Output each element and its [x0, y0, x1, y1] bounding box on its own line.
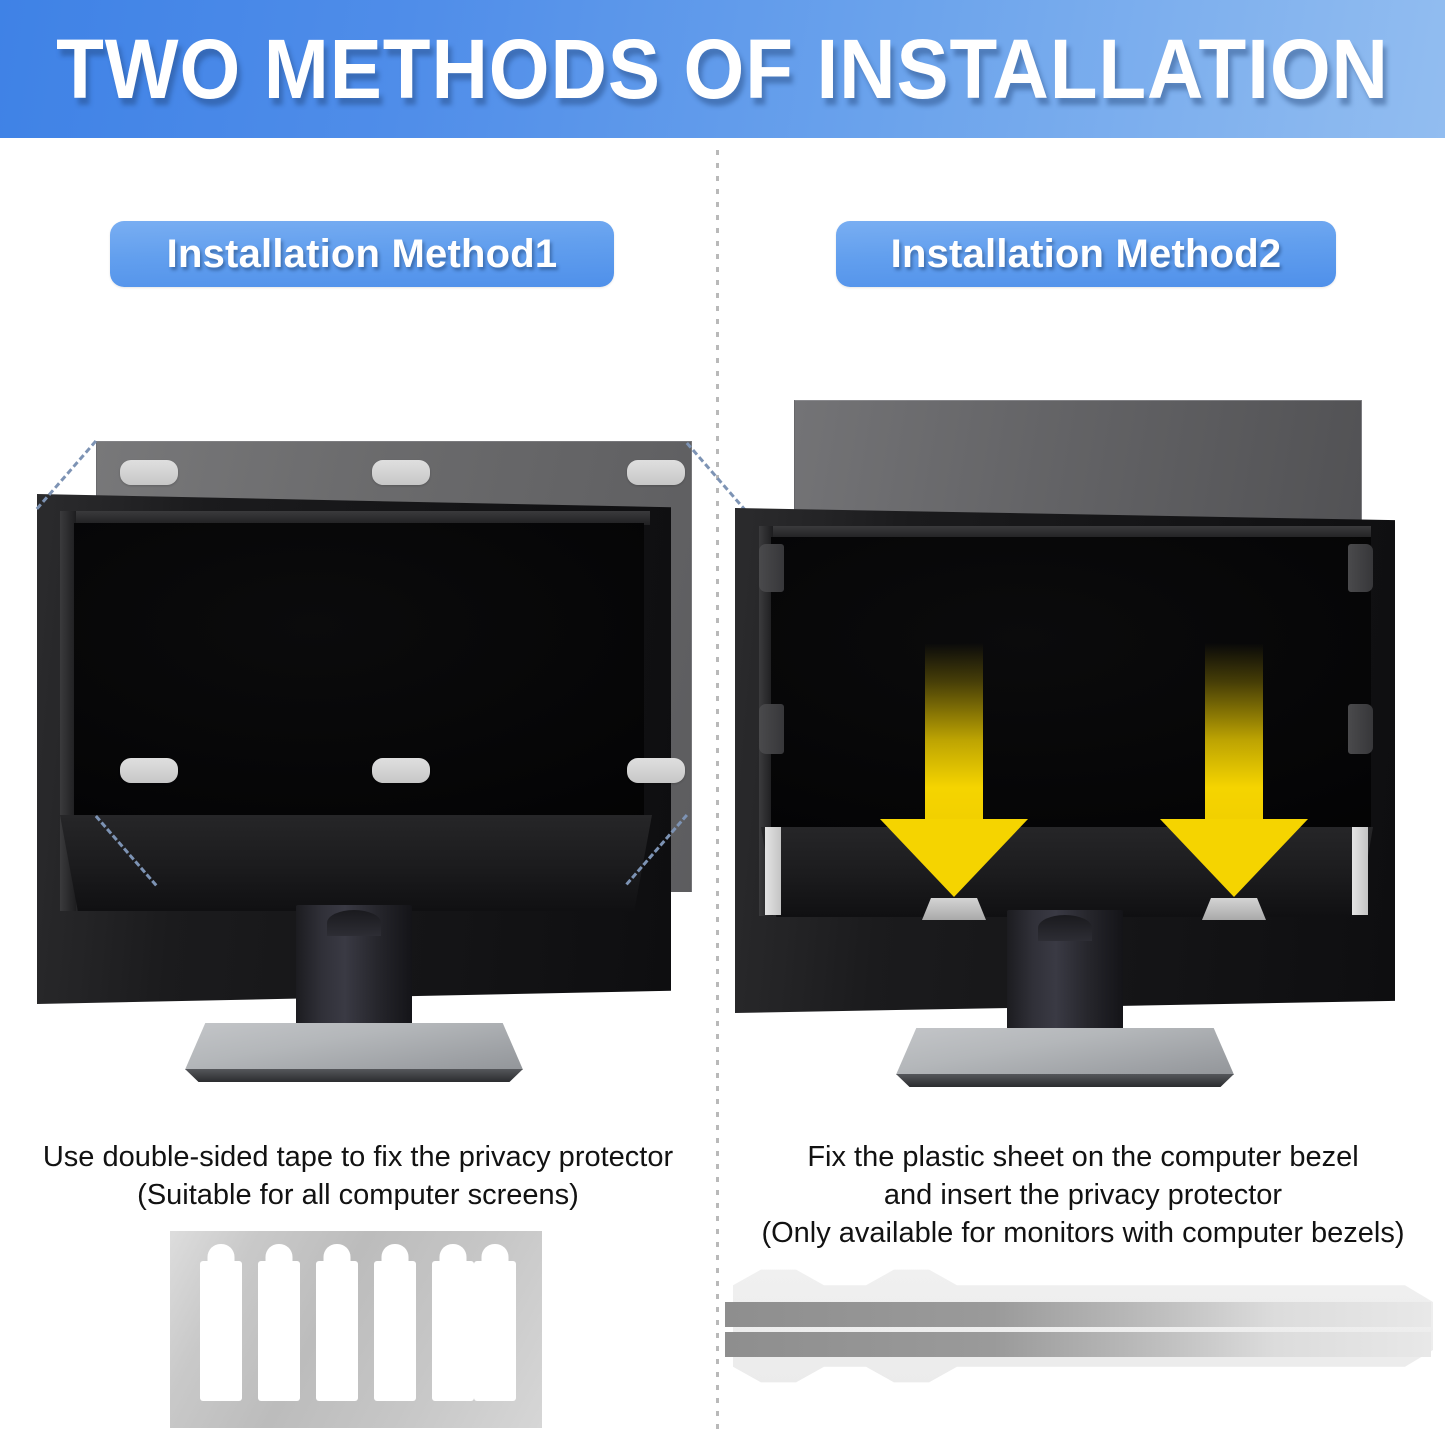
caption-line: Use double-sided tape to fix the privacy… — [8, 1138, 708, 1176]
filter-clip-tab — [759, 544, 784, 592]
insertion-arrow — [1154, 643, 1314, 898]
badge-method-1: Installation Method1 — [110, 221, 614, 287]
plastic-strip — [725, 1302, 1431, 1327]
installation-method-2-panel: Installation Method2 — [719, 138, 1445, 1438]
plastic-side-strip — [765, 827, 781, 915]
tape-pad — [372, 460, 430, 485]
arrow-shaft — [1205, 643, 1263, 819]
filter-bottom-tab — [1202, 898, 1266, 920]
plastic-mounting-strips — [725, 1266, 1441, 1386]
tape-tab — [374, 1261, 416, 1401]
arrow-head — [1160, 819, 1308, 897]
tape-tab — [200, 1261, 242, 1401]
tape-tab — [316, 1261, 358, 1401]
badge-method-2: Installation Method2 — [836, 221, 1336, 287]
filter-clip-tab — [1348, 704, 1373, 754]
stand-cable-hole — [1038, 915, 1092, 941]
monitor-illustration-method-1 — [0, 418, 716, 1118]
tape-tab — [432, 1261, 474, 1401]
header-banner: TWO METHODS OF INSTALLATION — [0, 0, 1445, 138]
monitor-stand-base-edge — [896, 1074, 1234, 1087]
filter-bottom-tab — [922, 898, 986, 920]
monitor-stand-base-edge — [185, 1069, 523, 1082]
filter-clip-tab — [1348, 544, 1373, 592]
caption-method-2: Fix the plastic sheet on the computer be… — [725, 1138, 1441, 1252]
tape-tab — [474, 1261, 516, 1401]
caption-line: and insert the privacy protector — [725, 1176, 1441, 1214]
monitor-illustration-method-2 — [719, 398, 1445, 1118]
tape-pad — [120, 460, 178, 485]
badge-method-2-label: Installation Method2 — [891, 232, 1282, 277]
tape-pad — [627, 460, 685, 485]
tape-pad — [627, 758, 685, 783]
tape-tab — [258, 1261, 300, 1401]
tape-pad — [372, 758, 430, 783]
insertion-arrow — [874, 643, 1034, 898]
arrow-head — [880, 819, 1028, 897]
tape-pad — [120, 758, 178, 783]
plastic-strip — [725, 1332, 1431, 1357]
filter-clip-tab — [759, 704, 784, 754]
plastic-side-strip — [1352, 827, 1368, 915]
caption-line: Fix the plastic sheet on the computer be… — [725, 1138, 1441, 1176]
caption-method-1: Use double-sided tape to fix the privacy… — [8, 1138, 708, 1214]
arrow-shaft — [925, 643, 983, 819]
double-sided-tape-sheet — [170, 1231, 542, 1428]
installation-method-1-panel: Installation Method1 Use — [0, 138, 716, 1438]
badge-method-1-label: Installation Method1 — [167, 232, 558, 277]
page-title: TWO METHODS OF INSTALLATION — [51, 24, 1395, 114]
stand-cable-hole — [327, 910, 381, 936]
caption-line: (Suitable for all computer screens) — [8, 1176, 708, 1214]
caption-line: (Only available for monitors with comput… — [725, 1214, 1441, 1252]
monitor-chin — [60, 815, 652, 911]
